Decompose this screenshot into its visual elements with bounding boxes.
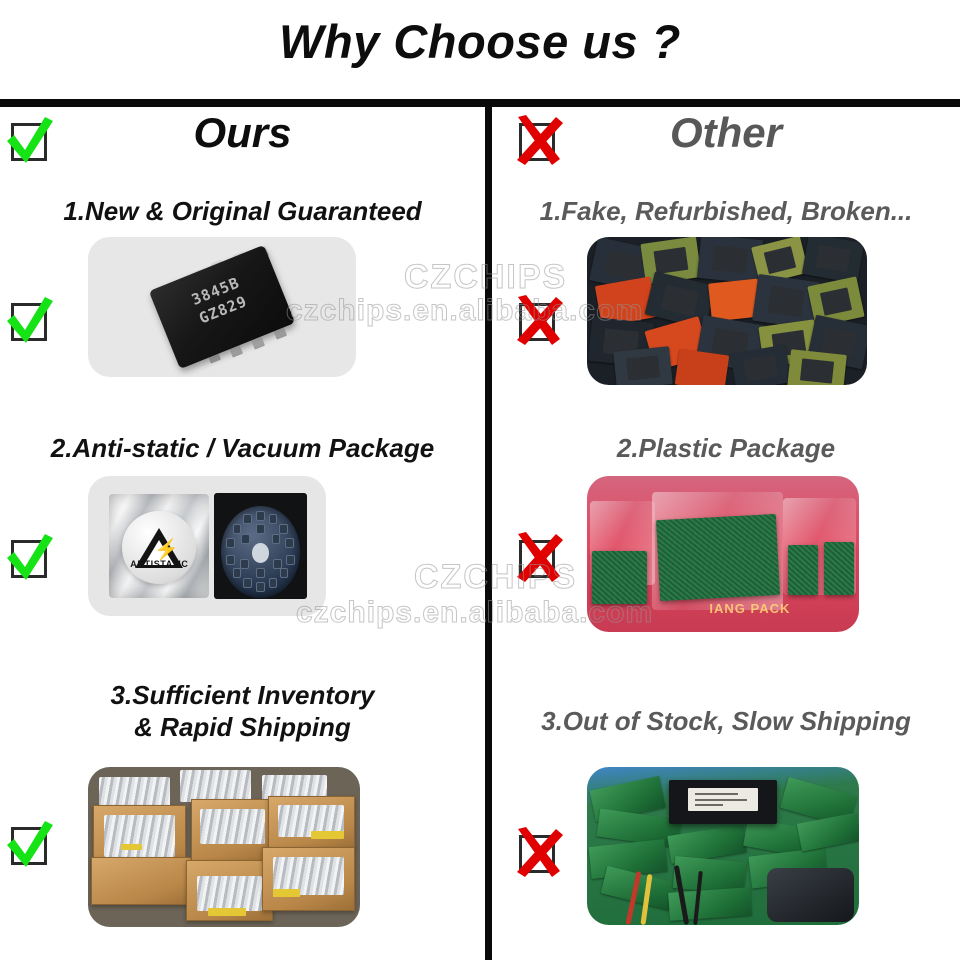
red-cross-icon — [512, 827, 564, 879]
plastic-package-photo: IANG PACK — [587, 476, 859, 632]
column-ours: Ours 1.New & Original Guaranteed — [0, 107, 485, 960]
feature-text-ours-2: 2.Anti-static / Vacuum Package — [0, 432, 485, 464]
red-cross-icon — [512, 295, 564, 347]
column-divider-line — [485, 103, 492, 960]
feature-text-ours-3: 3.Sufficient Inventory & Rapid Shipping — [0, 679, 485, 743]
antistatic-bag: ⚡ ANTISTATIC — [109, 494, 209, 598]
red-cross-icon — [512, 115, 564, 167]
component-reel — [221, 506, 301, 597]
column-header-ours: Ours — [0, 109, 485, 157]
black-pad — [767, 868, 854, 922]
lightning-bolt-icon: ⚡ — [154, 540, 179, 560]
page-title: Why Choose us ? — [0, 14, 960, 69]
antistatic-package-photo: ⚡ ANTISTATIC — [88, 476, 326, 616]
antistatic-disc: ⚡ ANTISTATIC — [122, 511, 196, 584]
column-other: Other 1.Fake, Refurbished, Broken... — [492, 107, 960, 960]
black-module — [669, 780, 778, 824]
feature-text-other-3: 3.Out of Stock, Slow Shipping — [492, 705, 960, 737]
header-divider-line — [0, 99, 960, 107]
feature-text-other-2: 2.Plastic Package — [492, 432, 960, 464]
green-scrap-boards-photo — [587, 767, 859, 925]
red-cross-icon — [512, 532, 564, 584]
green-check-icon — [4, 295, 56, 347]
feature-text-ours-1: 1.New & Original Guaranteed — [0, 195, 485, 227]
green-check-icon — [4, 115, 56, 167]
why-choose-us-infographic: Why Choose us ? Ours 1.New & Original Gu… — [0, 0, 960, 960]
green-check-icon — [4, 532, 56, 584]
green-check-icon — [4, 819, 56, 871]
reel-hub — [252, 543, 270, 563]
feature-text-other-1: 1.Fake, Refurbished, Broken... — [492, 195, 960, 227]
reel-box — [214, 493, 307, 599]
scrap-chips-photo — [587, 237, 867, 385]
module-label — [688, 788, 758, 811]
warehouse-boxes-photo — [88, 767, 360, 927]
pack-watermark-text: IANG PACK — [709, 601, 790, 616]
chip-photo: 3845B GZ829 — [88, 237, 356, 377]
